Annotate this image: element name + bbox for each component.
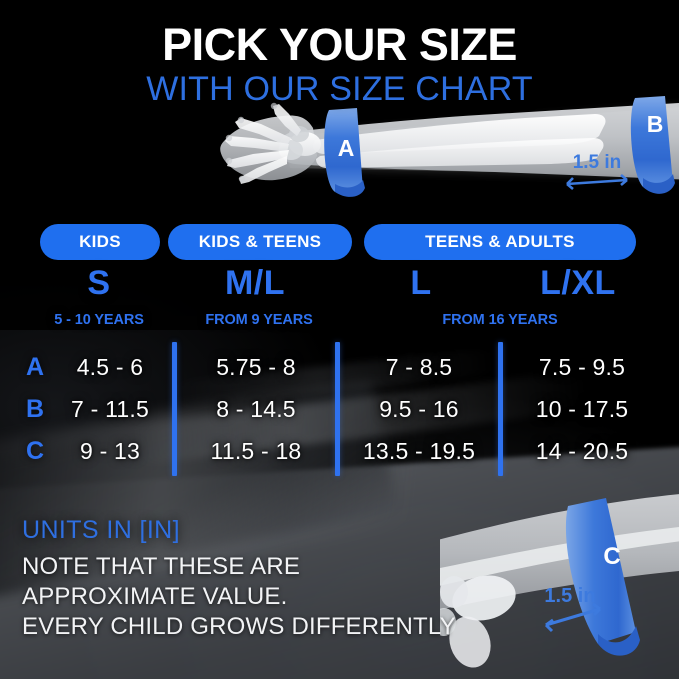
row-label-c: C [22,430,48,472]
badge-teens-adults: TEENS & ADULTS [364,224,636,260]
size-label-lxl: L/XL [512,264,644,303]
row-label-b: B [22,388,48,430]
cell-b-l: 9.5 - 16 [340,388,498,430]
cell-a-l: 7 - 8.5 [340,346,498,388]
units-note: UNITS IN [IN] [22,516,180,545]
age-label-kids: 5 - 10 YEARS [28,312,170,328]
table-row: B 7 - 11.5 8 - 14.5 9.5 - 16 10 - 17.5 [0,388,679,430]
note-line-2: APPROXIMATE VALUE. [22,582,462,612]
title-block: PICK YOUR SIZE WITH OUR SIZE CHART [0,22,679,109]
cell-b-lxl: 10 - 17.5 [503,388,661,430]
cell-c-ml: 11.5 - 18 [177,430,335,472]
dimension-label-top: 1.5 in [573,152,622,173]
size-label-ml: M/L [190,264,320,303]
row-label-a: A [22,346,48,388]
cell-c-l: 13.5 - 19.5 [340,430,498,472]
page-title: PICK YOUR SIZE [0,22,679,68]
size-chart-poster: A 1.5 in B [0,0,679,679]
cell-a-s: 4.5 - 6 [48,346,172,388]
measurement-table: A 4.5 - 6 5.75 - 8 7 - 8.5 7.5 - 9.5 B 7… [0,342,679,478]
cell-b-s: 7 - 11.5 [48,388,172,430]
table-row: A 4.5 - 6 5.75 - 8 7 - 8.5 7.5 - 9.5 [0,346,679,388]
page-subtitle: WITH OUR SIZE CHART [0,70,679,109]
dimension-marker-top [567,175,627,189]
band-b-label: B [647,111,664,137]
age-label-teens-adults: FROM 16 YEARS [424,312,576,328]
table-row: C 9 - 13 11.5 - 18 13.5 - 19.5 14 - 20.5 [0,430,679,472]
cell-a-lxl: 7.5 - 9.5 [503,346,661,388]
note-line-3: EVERY CHILD GROWS DIFFERENTLY [22,612,462,642]
cell-a-ml: 5.75 - 8 [177,346,335,388]
size-label-l: L [362,264,480,303]
dimension-label-bottom: 1.5 in [544,585,595,607]
badge-kids-teens: KIDS & TEENS [168,224,352,260]
band-c-label: C [603,543,620,570]
age-label-row: 5 - 10 YEARS FROM 9 YEARS FROM 16 YEARS [0,312,679,332]
band-a-label: A [338,135,355,161]
size-label-row: S M/L L L/XL [0,264,679,308]
category-badges: KIDS KIDS & TEENS TEENS & ADULTS [0,224,679,260]
size-label-s: S [40,264,158,303]
badge-kids: KIDS [40,224,160,260]
note-line-1: NOTE THAT THESE ARE [22,552,462,582]
cell-b-ml: 8 - 14.5 [177,388,335,430]
cell-c-s: 9 - 13 [48,430,172,472]
disclaimer-notes: NOTE THAT THESE ARE APPROXIMATE VALUE. E… [22,552,462,642]
cell-c-lxl: 14 - 20.5 [503,430,661,472]
age-label-kids-teens: FROM 9 YEARS [188,312,330,328]
xray-elbow-illustration: C 1.5 in [440,492,679,679]
